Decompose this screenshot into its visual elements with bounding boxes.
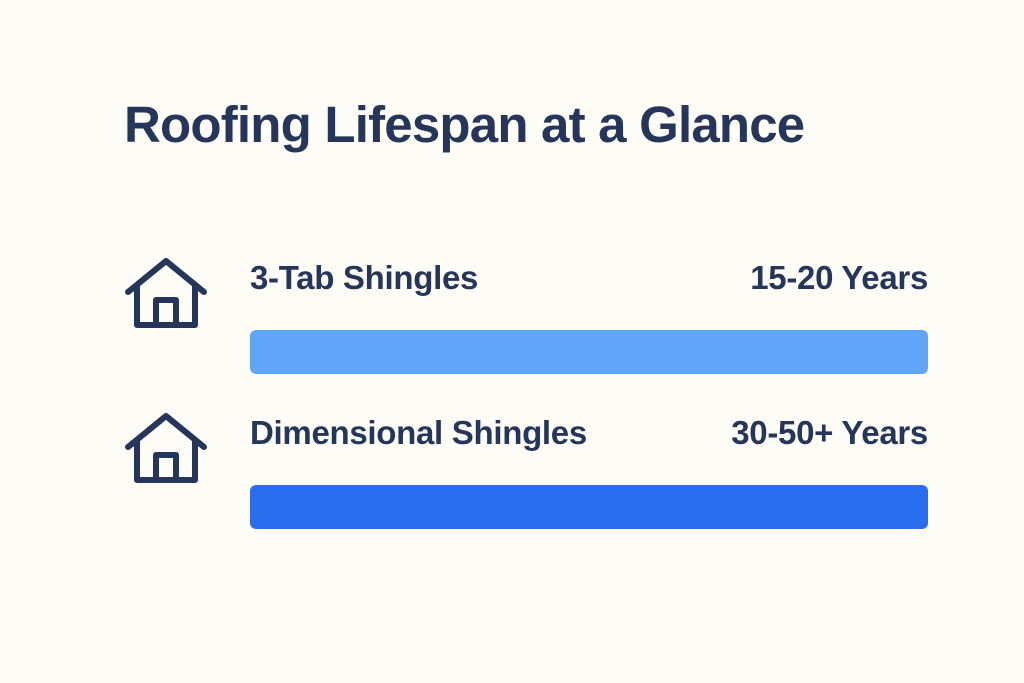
row-header: 3-Tab Shingles 15-20 Years <box>250 250 928 306</box>
list-item: Dimensional Shingles 30-50+ Years <box>0 405 1024 560</box>
bar-fill <box>250 485 928 529</box>
row-content: Dimensional Shingles 30-50+ Years <box>250 405 928 529</box>
row-content: 3-Tab Shingles 15-20 Years <box>250 250 928 374</box>
page-title: Roofing Lifespan at a Glance <box>124 96 804 155</box>
list-item: 3-Tab Shingles 15-20 Years <box>0 250 1024 405</box>
row-label: Dimensional Shingles <box>250 405 587 461</box>
house-icon <box>124 410 208 486</box>
row-value: 30-50+ Years <box>731 405 928 461</box>
bar-track <box>250 330 928 374</box>
bar-track <box>250 485 928 529</box>
bar-fill <box>250 330 928 374</box>
lifespan-row-list: 3-Tab Shingles 15-20 Years Dimensional <box>0 250 1024 560</box>
row-value: 15-20 Years <box>750 250 928 306</box>
row-label: 3-Tab Shingles <box>250 250 478 306</box>
roofing-lifespan-infographic: Roofing Lifespan at a Glance 3-Tab Shing… <box>0 0 1024 683</box>
row-header: Dimensional Shingles 30-50+ Years <box>250 405 928 461</box>
house-icon <box>124 255 208 331</box>
